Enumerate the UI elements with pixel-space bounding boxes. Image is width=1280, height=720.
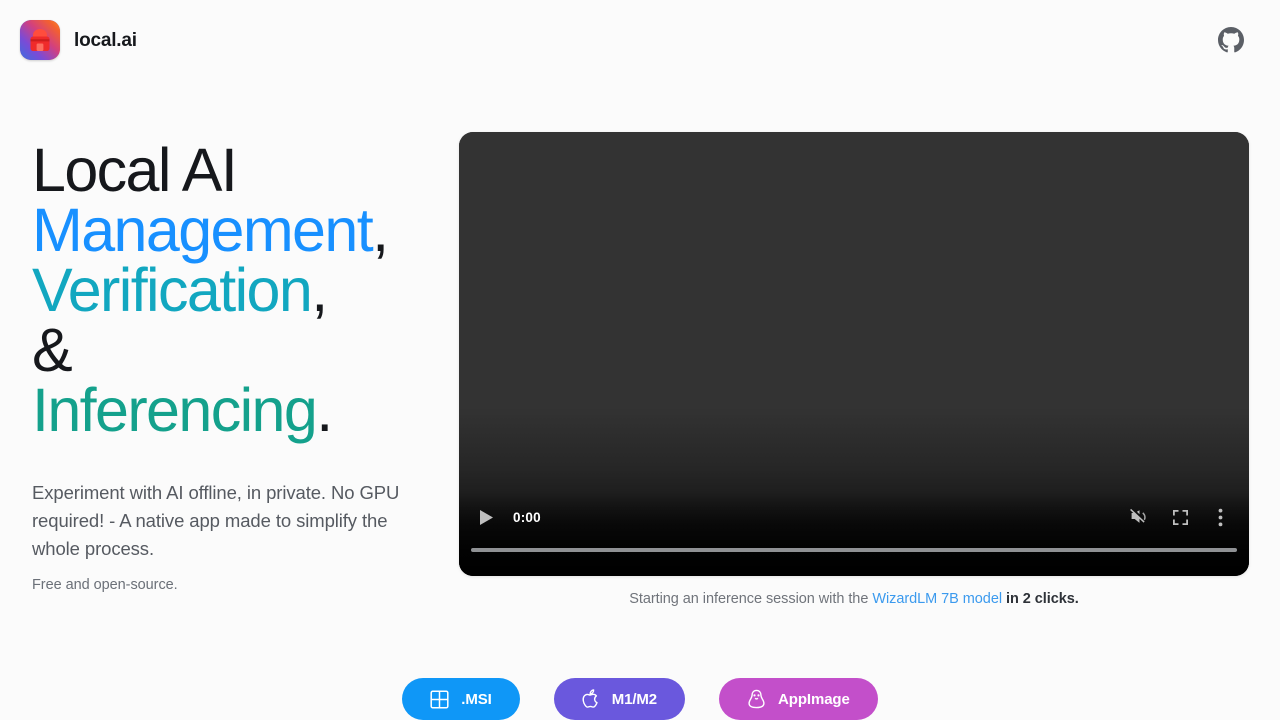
download-appimage-button[interactable]: AppImage (719, 678, 878, 720)
caption-suffix: in 2 clicks. (1006, 591, 1079, 607)
download-m1m2-label: M1/M2 (612, 691, 657, 708)
headline-line-4: & (32, 320, 426, 380)
headline-period: . (316, 376, 331, 444)
download-msi-button[interactable]: .MSI (402, 678, 519, 720)
video-seek-bar[interactable] (459, 542, 1249, 558)
hero-free-note: Free and open-source. (32, 575, 426, 595)
hero-copy: Local AI Management, Verification, & Inf… (0, 132, 426, 595)
page-title: Local AI Management, Verification, & Inf… (32, 140, 426, 440)
headline-word-verification: Verification (32, 256, 311, 324)
site-header: local.ai (0, 0, 1280, 80)
video-control-bar: 0:00 (459, 492, 1249, 576)
brand-home-link[interactable]: local.ai (20, 20, 137, 60)
brand-name: local.ai (74, 31, 137, 50)
linux-penguin-icon (747, 689, 766, 709)
headline-line-3: Verification, (32, 260, 426, 320)
download-msi-label: .MSI (461, 691, 491, 708)
headline-line-1: Local AI (32, 140, 426, 200)
download-buttons-row: .MSI M1/M2 AppImage (0, 678, 1280, 720)
windows-icon (430, 690, 449, 709)
localai-bag-logo-icon (20, 20, 60, 60)
video-current-time: 0:00 (513, 510, 541, 525)
hero-section: Local AI Management, Verification, & Inf… (0, 132, 1280, 609)
headline-comma-2: , (311, 256, 326, 324)
github-icon[interactable] (1218, 27, 1244, 53)
headline-line-2: Management, (32, 200, 426, 260)
download-appimage-label: AppImage (778, 691, 850, 708)
caption-prefix: Starting an inference session with the (629, 591, 872, 607)
demo-video-player[interactable]: 0:00 (459, 132, 1249, 576)
apple-icon (582, 689, 600, 709)
headline-word-management: Management (32, 196, 372, 264)
headline-line-5: Inferencing. (32, 380, 426, 440)
seek-track[interactable] (471, 548, 1237, 552)
video-controls-row: 0:00 (459, 492, 1249, 542)
play-icon[interactable] (471, 502, 501, 532)
video-caption: Starting an inference session with the W… (459, 589, 1249, 609)
fullscreen-icon[interactable] (1165, 502, 1195, 532)
hero-subtitle: Experiment with AI offline, in private. … (32, 479, 402, 563)
hero-media: 0:00 (459, 132, 1249, 609)
kebab-menu-icon[interactable] (1205, 502, 1235, 532)
download-m1m2-button[interactable]: M1/M2 (554, 678, 685, 720)
volume-muted-icon[interactable] (1125, 502, 1155, 532)
headline-comma-1: , (372, 196, 387, 264)
wizardlm-model-link[interactable]: WizardLM 7B model (872, 591, 1002, 607)
headline-word-inferencing: Inferencing (32, 376, 316, 444)
